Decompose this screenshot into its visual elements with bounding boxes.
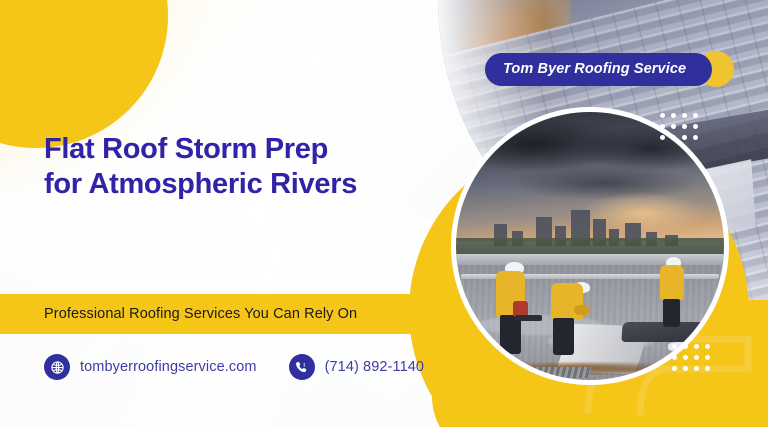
- brand-name-label: Tom Byer Roofing Service: [485, 53, 712, 86]
- tagline-text: Professional Roofing Services You Can Re…: [44, 306, 357, 322]
- contact-row: tombyerroofingservice.com (714) 892-1140: [44, 354, 424, 380]
- website-contact[interactable]: tombyerroofingservice.com: [44, 354, 257, 380]
- hero-storm-cloud: [569, 125, 724, 171]
- phone-label: (714) 892-1140: [325, 359, 424, 375]
- globe-icon: [44, 354, 70, 380]
- tagline-band: Professional Roofing Services You Can Re…: [0, 294, 458, 334]
- hero-worker: [547, 277, 593, 360]
- dot-grid-top: [660, 113, 698, 140]
- page-title: Flat Roof Storm Prep for Atmospheric Riv…: [44, 132, 444, 203]
- hero-worker: [654, 257, 692, 328]
- roof-workers-storm-prep-photo: [456, 112, 724, 380]
- promo-banner: Tom Byer Roofing Service Flat Roof Storm…: [0, 0, 768, 427]
- brand-badge[interactable]: Tom Byer Roofing Service: [485, 52, 712, 86]
- headline-line-1: Flat Roof Storm Prep: [44, 132, 444, 167]
- phone-contact[interactable]: (714) 892-1140: [289, 354, 424, 380]
- hero-worker: [488, 262, 534, 360]
- website-label: tombyerroofingservice.com: [80, 359, 257, 375]
- dot-grid-bottom: [672, 344, 710, 371]
- headline-line-2: for Atmospheric Rivers: [44, 167, 444, 202]
- phone-icon: [289, 354, 315, 380]
